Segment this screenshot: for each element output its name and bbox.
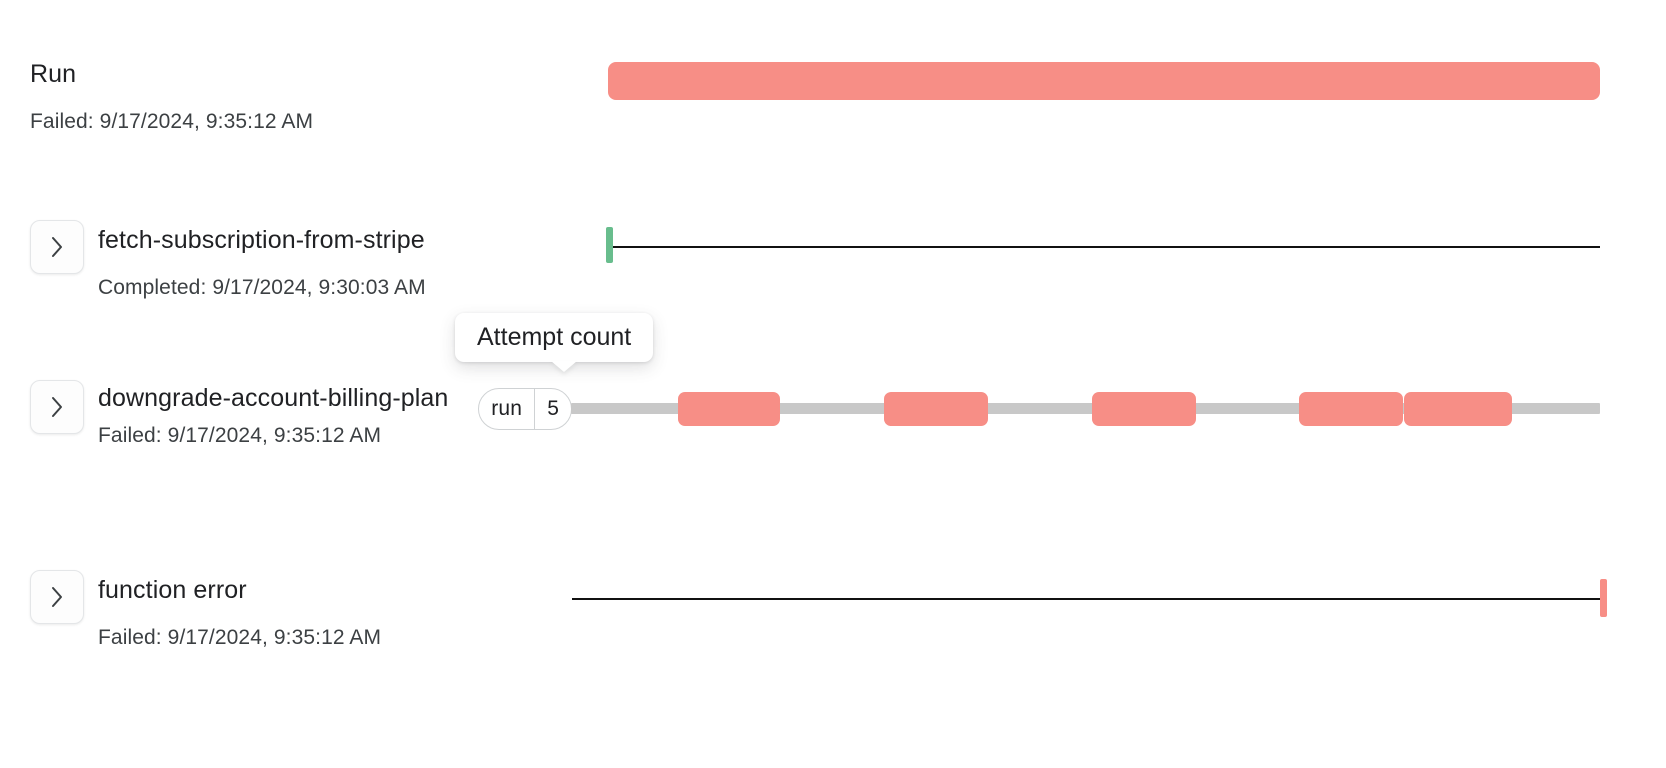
chevron-right-icon bbox=[50, 236, 64, 258]
step-title-function-error: function error bbox=[98, 574, 381, 606]
step-title-downgrade-account-billing-plan: downgrade-account-billing-plan bbox=[98, 382, 458, 414]
attempt-bar-2[interactable] bbox=[884, 392, 988, 426]
attempt-bar-5[interactable] bbox=[1404, 392, 1512, 426]
failed-marker-function-error[interactable] bbox=[1600, 579, 1607, 617]
attempt-badge-count: 5 bbox=[535, 389, 571, 429]
step-status-downgrade-account-billing-plan: Failed: 9/17/2024, 9:35:12 AM bbox=[98, 421, 458, 451]
attempt-bar-1[interactable] bbox=[678, 392, 780, 426]
expand-button-downgrade-account-billing-plan[interactable] bbox=[30, 380, 84, 434]
attempt-count-badge[interactable]: run 5 bbox=[478, 388, 572, 430]
attempt-badge-label: run bbox=[479, 389, 535, 429]
run-label-group: Run Failed: 9/17/2024, 9:35:12 AM bbox=[30, 58, 313, 137]
step-status-function-error: Failed: 9/17/2024, 9:35:12 AM bbox=[98, 623, 381, 653]
chevron-right-icon bbox=[50, 586, 64, 608]
attempt-count-tooltip: Attempt count bbox=[455, 313, 653, 362]
attempt-bar-4[interactable] bbox=[1299, 392, 1403, 426]
step-status-fetch-subscription-from-stripe: Completed: 9/17/2024, 9:30:03 AM bbox=[98, 273, 426, 303]
timeline-axis-line-fetch bbox=[608, 246, 1600, 248]
expand-button-function-error[interactable] bbox=[30, 570, 84, 624]
step-label-group-fetch: fetch-subscription-from-stripe Completed… bbox=[98, 224, 426, 303]
step-title-fetch-subscription-from-stripe: fetch-subscription-from-stripe bbox=[98, 224, 426, 256]
run-duration-bar[interactable] bbox=[608, 62, 1600, 100]
chevron-right-icon bbox=[50, 396, 64, 418]
attempt-bar-3[interactable] bbox=[1092, 392, 1196, 426]
expand-button-fetch-subscription-from-stripe[interactable] bbox=[30, 220, 84, 274]
step-label-group-function-error: function error Failed: 9/17/2024, 9:35:1… bbox=[98, 574, 381, 653]
completed-marker-fetch-subscription-from-stripe[interactable] bbox=[606, 227, 613, 263]
run-timeline-view: Run Failed: 9/17/2024, 9:35:12 AM fetch-… bbox=[0, 0, 1666, 768]
step-label-group-downgrade: downgrade-account-billing-plan Failed: 9… bbox=[98, 382, 458, 451]
tooltip-text: Attempt count bbox=[477, 323, 631, 351]
run-status-text: Failed: 9/17/2024, 9:35:12 AM bbox=[30, 107, 313, 137]
page-title: Run bbox=[30, 58, 313, 90]
timeline-axis-line-function-error bbox=[572, 598, 1606, 600]
